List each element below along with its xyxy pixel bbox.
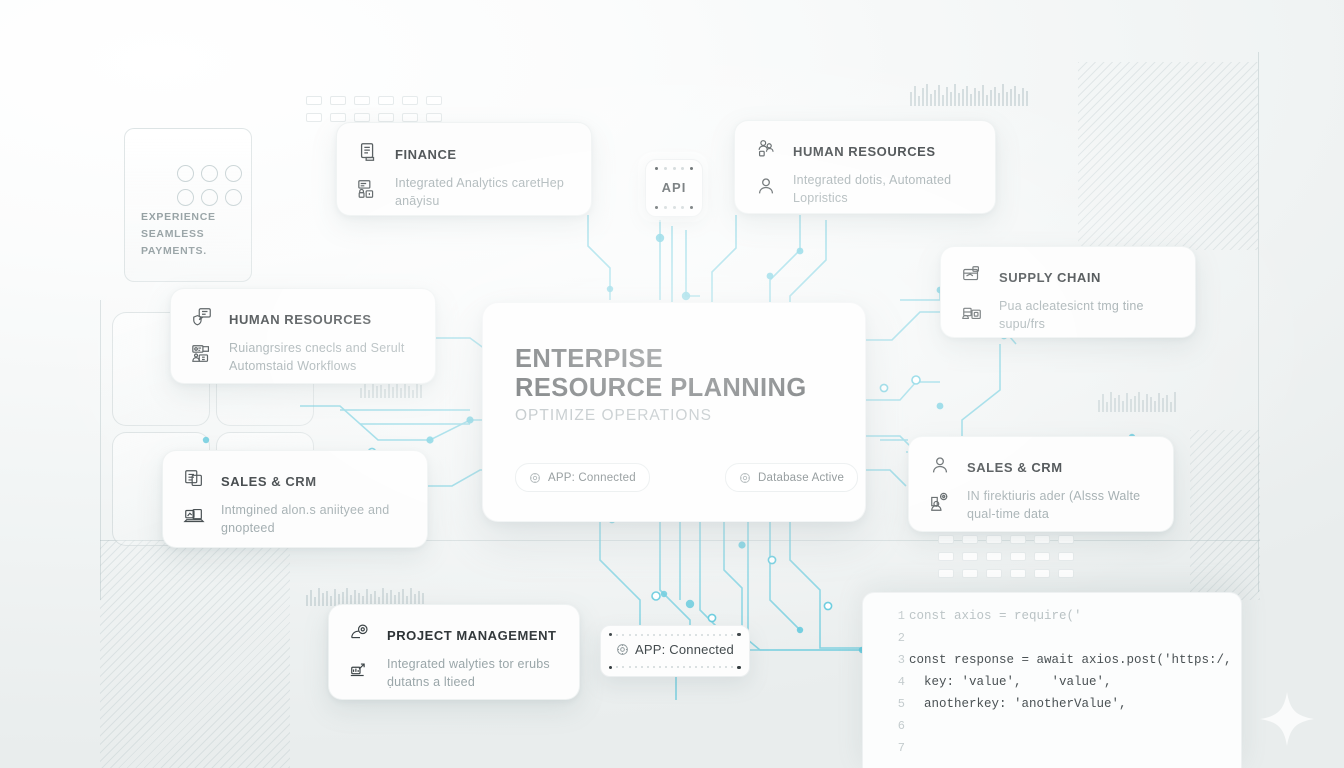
module-card-human-resources-left[interactable]: HUMAN RESOURCES Ruiangrsires cnecls and … — [170, 288, 436, 384]
card-description: IN firektiuris ader (Alsss Walte qual-ti… — [967, 487, 1161, 523]
module-card-sales-crm-left[interactable]: SALES & CRM Intmgined alon.s aniityee an… — [162, 450, 428, 548]
shield-chat-icon — [187, 302, 217, 332]
user-target-icon — [925, 487, 955, 517]
card-title: HUMAN RESOURCES — [793, 144, 936, 159]
code-line: anotherkey: 'anotherValue', — [909, 697, 1127, 711]
user-icon — [751, 171, 781, 201]
code-line-number: 7 — [863, 741, 905, 755]
code-line: key: 'value', 'value', — [909, 675, 1112, 689]
card-title: PROJECT MANAGEMENT — [387, 628, 557, 643]
page-title: ENTERPISE RESOURCE PLANNING — [515, 345, 815, 403]
module-card-finance[interactable]: FINANCE Integrated Analytics caretHep an… — [336, 122, 592, 216]
card-title: SALES & CRM — [967, 460, 1063, 475]
status-chip-pins-bottom — [609, 666, 741, 669]
erp-infographic-canvas: EXPERIENCE SEAMLESS PAYMENTS. — [0, 0, 1344, 768]
people-group-icon — [751, 134, 781, 164]
status-chip-pins-top — [609, 633, 741, 636]
code-line-number: 5 — [863, 697, 905, 711]
user-icon — [925, 450, 955, 480]
status-badge-label: Database Active — [758, 472, 844, 484]
inbox-card-icon — [187, 339, 217, 369]
status-chip-label: APP: Connected — [635, 642, 734, 657]
code-line-number: 2 — [863, 631, 905, 645]
card-title: HUMAN RESOURCES — [229, 312, 372, 327]
code-line-number: 3 — [863, 653, 905, 667]
report-lock-icon — [353, 174, 383, 204]
module-card-supply-chain[interactable]: SUPPLY CHAIN Pua acleatesicnt tmg tine s… — [940, 246, 1196, 338]
status-badge-label: APP: Connected — [548, 472, 636, 484]
code-line-number: 6 — [863, 719, 905, 733]
code-line-number: 1 — [863, 609, 905, 623]
api-chip-label: API — [646, 180, 702, 195]
card-title: SALES & CRM — [221, 474, 317, 489]
status-chip-content: APP: Connected — [601, 642, 749, 657]
hero-card: ENTERPISE RESOURCE PLANNING OPTIMIZE OPE… — [482, 302, 866, 522]
gauge-icon — [345, 618, 375, 648]
card-description: Integrated Analytics caretHep anāyisu — [395, 174, 577, 210]
card-title: SUPPLY CHAIN — [999, 270, 1101, 285]
code-line: const response = await axios.post('https… — [909, 653, 1232, 667]
box-truck-icon — [957, 260, 987, 290]
status-badge-database-active[interactable]: Database Active — [725, 463, 858, 492]
code-line-number: 4 — [863, 675, 905, 689]
status-chip-app-connected[interactable]: APP: Connected — [600, 625, 750, 677]
card-description: Ruiangrsires cnecls and Serult Automstai… — [229, 339, 423, 375]
api-chip-pins-bottom — [655, 206, 693, 209]
cards-stack-icon — [179, 464, 209, 494]
laptop-icon — [179, 501, 209, 531]
api-chip-pins-top — [655, 167, 693, 170]
card-description: Pua acleatesicnt tmg tine supu/frs — [999, 297, 1183, 333]
module-card-sales-crm-right[interactable]: SALES & CRM IN firektiuris ader (Alsss W… — [908, 436, 1174, 532]
gear-icon — [616, 643, 629, 656]
gear-icon — [529, 472, 541, 484]
warehouse-icon — [957, 297, 987, 327]
card-title: FINANCE — [395, 147, 457, 162]
module-card-human-resources-top[interactable]: HUMAN RESOURCES Integrated dotis, Automa… — [734, 120, 996, 214]
document-icon — [353, 137, 383, 167]
chart-growth-icon — [345, 655, 375, 685]
status-badge-app-connected[interactable]: APP: Connected — [515, 463, 650, 492]
page-subtitle: OPTIMIZE OPERATIONS — [515, 407, 712, 425]
module-card-project-management[interactable]: PROJECT MANAGEMENT Integrated walyties t… — [328, 604, 580, 700]
card-description: Intmgined alon.s aniityee and gnopteed — [221, 501, 415, 537]
api-chip[interactable]: API — [645, 159, 703, 217]
code-line: const axios = require(' — [909, 609, 1082, 623]
gear-icon — [739, 472, 751, 484]
card-description: Integrated dotis, Automated Lopristics — [793, 171, 983, 207]
card-description: Integrated walyties tor erubs ḍutatns a … — [387, 655, 567, 691]
code-block[interactable]: 1 const axios = require(' 2 3 const resp… — [862, 592, 1242, 768]
